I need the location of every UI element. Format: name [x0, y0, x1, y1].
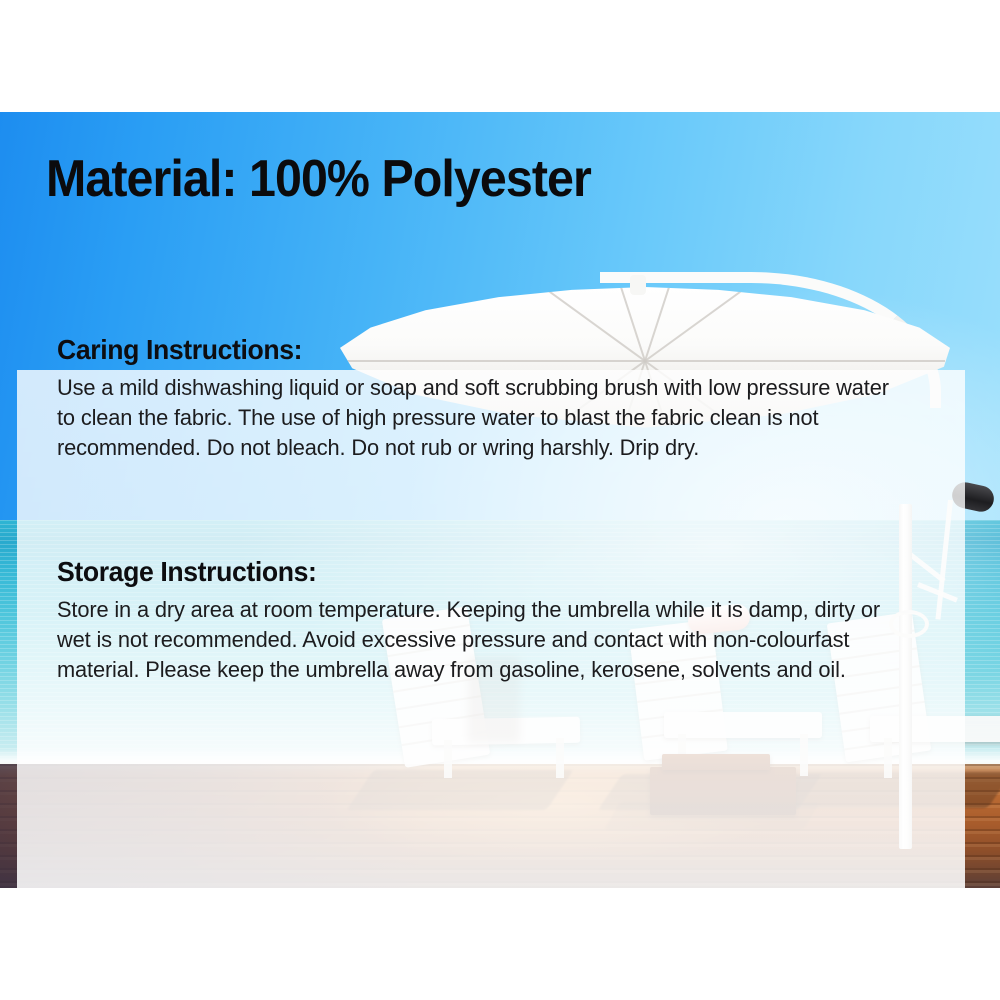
- storage-instructions-section: Storage Instructions: Store in a dry are…: [57, 555, 919, 685]
- beach-scene-photo: [0, 112, 1000, 888]
- caring-instructions-section: Caring Instructions: Use a mild dishwash…: [57, 333, 919, 463]
- storage-instructions-heading: Storage Instructions:: [57, 555, 876, 589]
- infographic-page: Material: 100% Polyester Caring Instruct…: [0, 0, 1000, 1000]
- caring-instructions-body: Use a mild dishwashing liquid or soap an…: [57, 373, 893, 463]
- page-title: Material: 100% Polyester: [46, 148, 591, 210]
- caring-instructions-heading: Caring Instructions:: [57, 333, 876, 367]
- storage-instructions-body: Store in a dry area at room temperature.…: [57, 595, 893, 685]
- umbrella-finial: [630, 275, 646, 295]
